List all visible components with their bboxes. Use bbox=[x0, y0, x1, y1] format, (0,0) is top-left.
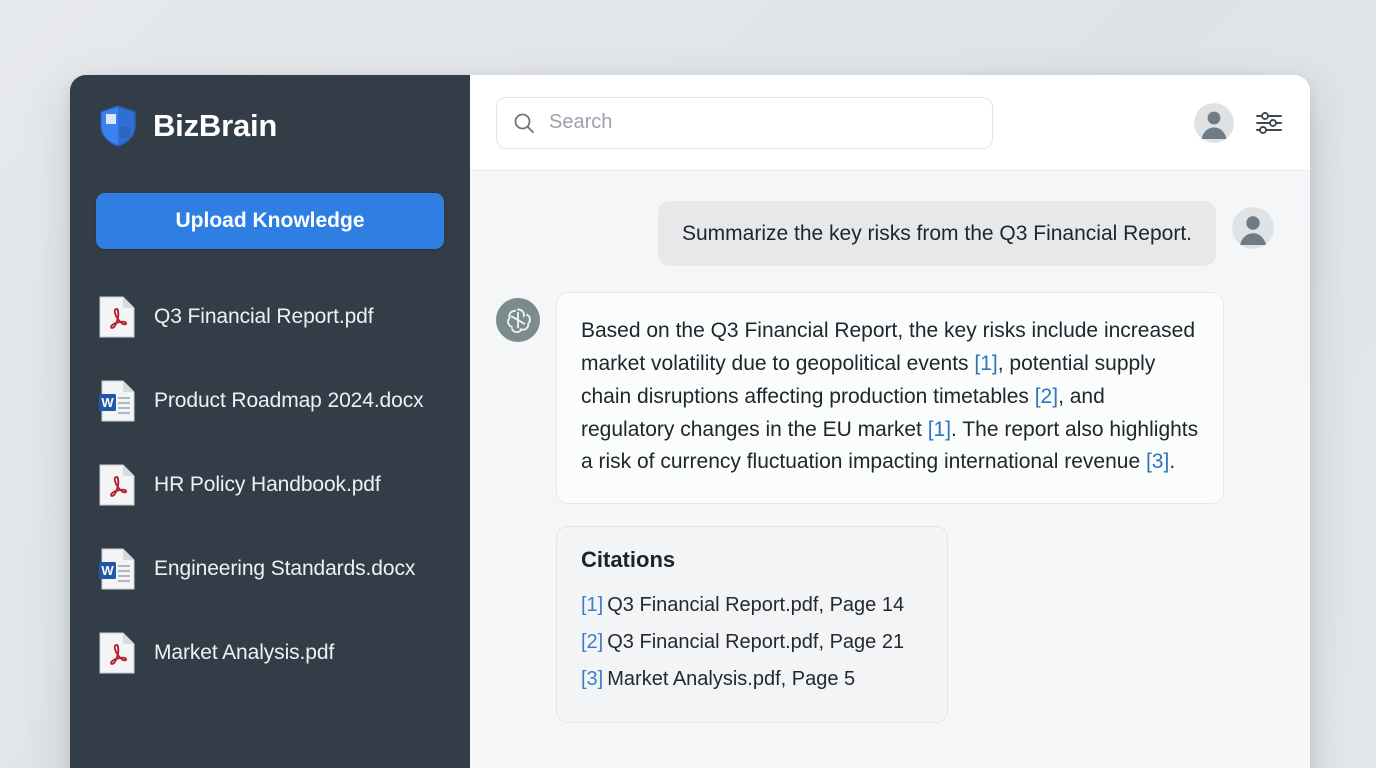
app-window: BizBrain Upload Knowledge Q3 Financial R… bbox=[70, 75, 1310, 768]
list-item-label: Product Roadmap 2024.docx bbox=[154, 387, 424, 415]
shield-icon bbox=[99, 105, 137, 147]
inline-citation-marker[interactable]: [1] bbox=[974, 352, 997, 375]
inline-citation-marker[interactable]: [3] bbox=[1146, 450, 1169, 473]
top-bar bbox=[470, 75, 1310, 171]
user-message-bubble: Summarize the key risks from the Q3 Fina… bbox=[658, 201, 1216, 266]
desktop-background: BizBrain Upload Knowledge Q3 Financial R… bbox=[0, 0, 1376, 768]
citation-marker: [3] bbox=[581, 668, 603, 690]
list-item-label: Engineering Standards.docx bbox=[154, 555, 415, 583]
assistant-message-row: Based on the Q3 Financial Report, the ke… bbox=[496, 292, 1274, 504]
list-item[interactable]: Market Analysis.pdf bbox=[96, 621, 444, 685]
pdf-file-icon bbox=[98, 295, 136, 339]
citation-item[interactable]: [1]Q3 Financial Report.pdf, Page 14 bbox=[581, 587, 923, 624]
pdf-file-icon bbox=[98, 631, 136, 675]
pdf-file-icon bbox=[98, 463, 136, 507]
assistant-message-bubble: Based on the Q3 Financial Report, the ke… bbox=[556, 292, 1224, 504]
list-item-label: Market Analysis.pdf bbox=[154, 639, 334, 667]
citation-item[interactable]: [3]Market Analysis.pdf, Page 5 bbox=[581, 661, 923, 698]
list-item[interactable]: W Product Roadmap 2024.docx bbox=[96, 369, 444, 433]
main-panel: Summarize the key risks from the Q3 Fina… bbox=[470, 75, 1310, 768]
citations-panel: Citations [1]Q3 Financial Report.pdf, Pa… bbox=[556, 526, 948, 723]
list-item-label: Q3 Financial Report.pdf bbox=[154, 303, 373, 331]
assistant-text-segment: . bbox=[1169, 450, 1175, 473]
file-list: Q3 Financial Report.pdf bbox=[96, 285, 444, 685]
list-item[interactable]: HR Policy Handbook.pdf bbox=[96, 453, 444, 517]
search-box[interactable] bbox=[496, 97, 993, 149]
word-file-icon: W bbox=[98, 547, 136, 591]
user-avatar-icon bbox=[1232, 201, 1274, 249]
brand-name: BizBrain bbox=[153, 108, 277, 144]
inline-citation-marker[interactable]: [2] bbox=[1035, 385, 1058, 408]
user-avatar-icon[interactable] bbox=[1194, 103, 1234, 143]
sliders-icon[interactable] bbox=[1254, 108, 1284, 138]
list-item-label: HR Policy Handbook.pdf bbox=[154, 471, 381, 499]
citation-marker: [2] bbox=[581, 631, 603, 653]
brand: BizBrain bbox=[96, 105, 444, 147]
user-message-row: Summarize the key risks from the Q3 Fina… bbox=[496, 201, 1274, 266]
svg-text:W: W bbox=[101, 563, 114, 578]
openai-logo-icon bbox=[496, 292, 540, 342]
citation-item[interactable]: [2]Q3 Financial Report.pdf, Page 21 bbox=[581, 624, 923, 661]
search-icon bbox=[513, 112, 535, 134]
sidebar: BizBrain Upload Knowledge Q3 Financial R… bbox=[70, 75, 470, 768]
citation-source: Q3 Financial Report.pdf, Page 21 bbox=[607, 631, 904, 653]
citation-source: Market Analysis.pdf, Page 5 bbox=[607, 668, 855, 690]
search-input[interactable] bbox=[549, 111, 976, 134]
inline-citation-marker[interactable]: [1] bbox=[928, 418, 951, 441]
list-item[interactable]: Q3 Financial Report.pdf bbox=[96, 285, 444, 349]
citation-source: Q3 Financial Report.pdf, Page 14 bbox=[607, 594, 904, 616]
chat-area: Summarize the key risks from the Q3 Fina… bbox=[470, 171, 1310, 768]
upload-knowledge-button[interactable]: Upload Knowledge bbox=[96, 193, 444, 249]
list-item[interactable]: W Engineering Standards.docx bbox=[96, 537, 444, 601]
word-file-icon: W bbox=[98, 379, 136, 423]
citation-marker: [1] bbox=[581, 594, 603, 616]
svg-text:W: W bbox=[101, 395, 114, 410]
citations-title: Citations bbox=[581, 547, 923, 573]
